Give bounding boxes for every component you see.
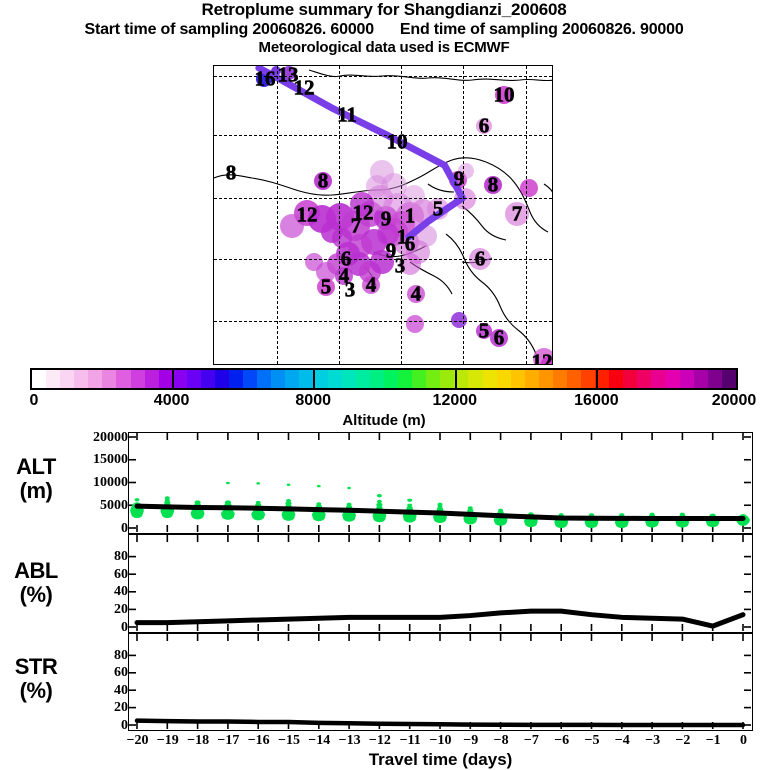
colorbar-swatch — [722, 370, 736, 388]
yaxis-tick-label: 20 — [114, 602, 128, 618]
map-gridline-v — [463, 66, 464, 364]
map-gridline-v — [526, 66, 527, 364]
map-day-label: 10 — [494, 85, 515, 106]
map-day-label: 4 — [411, 284, 422, 305]
colorbar-swatch — [468, 370, 482, 388]
colorbar-swatch — [511, 370, 525, 388]
panel-alt[interactable] — [128, 432, 753, 534]
colorbar-swatch — [131, 370, 145, 388]
colorbar-swatch — [412, 370, 426, 388]
yaxis-tick-label: 40 — [114, 584, 128, 600]
map-day-label: 7 — [351, 216, 362, 237]
yaxis-tick-label: 15000 — [93, 452, 128, 468]
yaxis-tick-label: 60 — [114, 567, 128, 583]
yaxis-labels-alt: 05000100001500020000 — [60, 432, 124, 534]
map-gridline-h — [214, 198, 552, 199]
map-day-label: 12 — [532, 352, 553, 366]
xaxis-tick-label: −9 — [463, 733, 478, 749]
xaxis-tick-label: −10 — [430, 733, 452, 749]
colorbar-major-tick — [172, 368, 174, 390]
colorbar-swatch — [440, 370, 454, 388]
plot-area-str — [129, 634, 752, 730]
colorbar-swatch — [116, 370, 130, 388]
mean-line — [137, 611, 743, 626]
map-gridline-v — [339, 66, 340, 364]
colorbar-swatch — [581, 370, 595, 388]
colorbar-tick-labels: 040008000120001600020000 — [30, 392, 738, 412]
row-label-alt-text: ALT — [16, 454, 56, 479]
yaxis-tick-label: 20 — [114, 700, 128, 716]
colorbar-swatch — [609, 370, 623, 388]
xaxis-tick-label: −12 — [369, 733, 391, 749]
map-day-label: 9 — [381, 209, 392, 230]
xaxis-tick-label: −14 — [308, 733, 330, 749]
xaxis-tick-label: −8 — [494, 733, 509, 749]
xaxis-tick-label: −16 — [248, 733, 270, 749]
coastline-overlay — [214, 66, 552, 364]
colorbar-swatch — [694, 370, 708, 388]
colorbar-swatch — [651, 370, 665, 388]
xaxis-tick-label: −13 — [339, 733, 361, 749]
map-day-label: 1 — [397, 227, 408, 248]
plot-area-abl — [129, 535, 752, 632]
map-day-label: 7 — [512, 204, 523, 225]
colorbar-swatch — [398, 370, 412, 388]
colorbar-swatch — [370, 370, 384, 388]
xaxis-tick-labels: −20−19−18−17−16−15−14−13−12−11−10−9−8−7−… — [128, 733, 753, 749]
map-day-label: 4 — [366, 275, 377, 296]
xaxis-tick-label: −3 — [645, 733, 660, 749]
map-day-label: 8 — [226, 163, 237, 184]
colorbar-swatch — [201, 370, 215, 388]
map-gridline-h — [214, 135, 552, 136]
yaxis-tick-label: 5000 — [100, 498, 128, 514]
colorbar-swatch — [102, 370, 116, 388]
map-day-label: 5 — [433, 199, 444, 220]
map-day-label: 12 — [294, 78, 315, 99]
colorbar-swatch — [74, 370, 88, 388]
yaxis-tick-label: 80 — [114, 549, 128, 565]
colorbar-swatch — [384, 370, 398, 388]
yaxis-tick-label: 40 — [114, 683, 128, 699]
colorbar-tick-label: 16000 — [574, 392, 619, 410]
colorbar-swatch — [60, 370, 74, 388]
xaxis-tick-label: −7 — [524, 733, 539, 749]
colorbar-swatch — [497, 370, 511, 388]
colorbar-tick-label: 4000 — [154, 392, 190, 410]
colorbar-tick-label: 8000 — [295, 392, 331, 410]
xaxis-tick-label: −15 — [278, 733, 300, 749]
colorbar-swatch — [483, 370, 497, 388]
row-label-str-text: STR — [15, 654, 58, 679]
colorbar-swatch — [299, 370, 313, 388]
footprint-blobs — [214, 66, 552, 364]
yaxis-labels-abl: 020406080 — [60, 534, 124, 633]
figure-title-block: Retroplume summary for Shangdianzi_20060… — [0, 0, 768, 57]
xaxis-title: Travel time (days) — [128, 750, 753, 770]
map-gridline-h — [214, 259, 552, 260]
colorbar-swatch — [32, 370, 46, 388]
colorbar-major-tick — [596, 368, 598, 390]
row-label-alt: ALT (m) — [4, 455, 68, 503]
map-day-label: 12 — [353, 203, 374, 224]
colorbar-swatch — [257, 370, 271, 388]
xaxis-tick-label: 0 — [740, 733, 747, 749]
map-day-label: 5 — [479, 321, 490, 342]
yaxis-tick-label: 80 — [114, 648, 128, 664]
retroplume-map[interactable]: 1613121110988106871212791561696453443561… — [213, 65, 553, 365]
map-day-label: 3 — [345, 280, 356, 301]
map-day-labels: 1613121110988106871212791561696453443561… — [214, 66, 552, 364]
row-label-abl: ABL (%) — [4, 559, 68, 607]
xaxis-tick-label: −17 — [217, 733, 239, 749]
colorbar-swatch — [666, 370, 680, 388]
colorbar-swatch — [328, 370, 342, 388]
colorbar-swatch — [426, 370, 440, 388]
xaxis-tick-label: −4 — [615, 733, 630, 749]
colorbar-swatch — [637, 370, 651, 388]
map-frame: 1613121110988106871212791561696453443561… — [213, 65, 553, 365]
xaxis-tick-label: −1 — [706, 733, 721, 749]
sampling-time-row: Start time of sampling 20060826. 60000 E… — [0, 20, 768, 39]
map-gridline-v — [401, 66, 402, 364]
colorbar-swatch — [46, 370, 60, 388]
xaxis-tick-label: −11 — [400, 733, 421, 749]
xaxis-tick-label: −5 — [585, 733, 600, 749]
map-gridline-h — [214, 321, 552, 322]
colorbar-swatch — [356, 370, 370, 388]
xaxis-tick-label: −19 — [157, 733, 179, 749]
yaxis-labels-str: 020406080 — [60, 633, 124, 731]
map-day-label: 5 — [321, 277, 332, 298]
colorbar-swatch — [525, 370, 539, 388]
colorbar-swatch — [243, 370, 257, 388]
xaxis-tick-label: −2 — [675, 733, 690, 749]
row-label-str: STR (%) — [4, 655, 68, 703]
colorbar-swatch — [623, 370, 637, 388]
colorbar-major-tick — [455, 368, 457, 390]
colorbar-tick-label: 0 — [30, 392, 39, 410]
map-day-label: 6 — [494, 328, 505, 349]
altitude-colorbar[interactable]: 040008000120001600020000 Altitude (m) — [30, 368, 738, 390]
colorbar-swatch — [88, 370, 102, 388]
centroid-trajectory — [214, 66, 552, 364]
panel-str[interactable] — [128, 633, 753, 731]
map-gridline-v — [277, 66, 278, 364]
colorbar-swatch — [680, 370, 694, 388]
yaxis-tick-label: 60 — [114, 665, 128, 681]
met-data-label: Meteorological data used is ECMWF — [0, 39, 768, 57]
colorbar-swatch — [285, 370, 299, 388]
retroplume-summary-figure: Retroplume summary for Shangdianzi_20060… — [0, 0, 768, 768]
row-units-abl-text: (%) — [20, 582, 53, 607]
map-day-label: 8 — [488, 175, 499, 196]
page-title: Retroplume summary for Shangdianzi_20060… — [0, 0, 768, 20]
colorbar-swatch — [553, 370, 567, 388]
yaxis-tick-label: 10000 — [93, 475, 128, 491]
colorbar-swatch — [215, 370, 229, 388]
colorbar-swatch — [145, 370, 159, 388]
map-day-label: 16 — [255, 69, 276, 90]
map-day-label: 4 — [339, 266, 350, 287]
colorbar-tick-label: 20000 — [712, 392, 757, 410]
plot-area-alt — [129, 433, 752, 533]
colorbar-swatch — [708, 370, 722, 388]
colorbar-swatch — [271, 370, 285, 388]
colorbar-swatch — [187, 370, 201, 388]
yaxis-tick-label: 0 — [121, 718, 128, 734]
colorbar-swatch — [539, 370, 553, 388]
colorbar-swatch — [229, 370, 243, 388]
colorbar-strip — [30, 368, 738, 390]
row-units-str-text: (%) — [20, 678, 53, 703]
colorbar-swatch — [314, 370, 328, 388]
colorbar-swatch — [567, 370, 581, 388]
row-units-alt-text: (m) — [20, 478, 53, 503]
colorbar-title: Altitude (m) — [30, 412, 738, 429]
map-day-label: 8 — [318, 171, 329, 192]
scatter-cluster-group — [130, 482, 750, 528]
yaxis-tick-label: 20000 — [93, 430, 128, 446]
map-day-label: 11 — [337, 105, 357, 126]
xaxis-tick-label: −18 — [187, 733, 209, 749]
end-time-label: End time of sampling 20060826. 90000 — [400, 20, 684, 39]
row-label-abl-text: ABL — [14, 558, 58, 583]
xaxis-tick-label: −6 — [554, 733, 569, 749]
panel-abl[interactable] — [128, 534, 753, 633]
map-day-label: 6 — [405, 234, 416, 255]
colorbar-tick-label: 12000 — [433, 392, 478, 410]
colorbar-swatch — [342, 370, 356, 388]
colorbar-swatch — [173, 370, 187, 388]
start-time-label: Start time of sampling 20060826. 60000 — [84, 20, 373, 39]
map-day-label: 1 — [405, 206, 416, 227]
map-day-label: 12 — [297, 205, 318, 226]
map-gridline-h — [214, 76, 552, 77]
map-day-label: 6 — [479, 116, 490, 137]
colorbar-major-tick — [313, 368, 315, 390]
xaxis-tick-label: −20 — [127, 733, 149, 749]
